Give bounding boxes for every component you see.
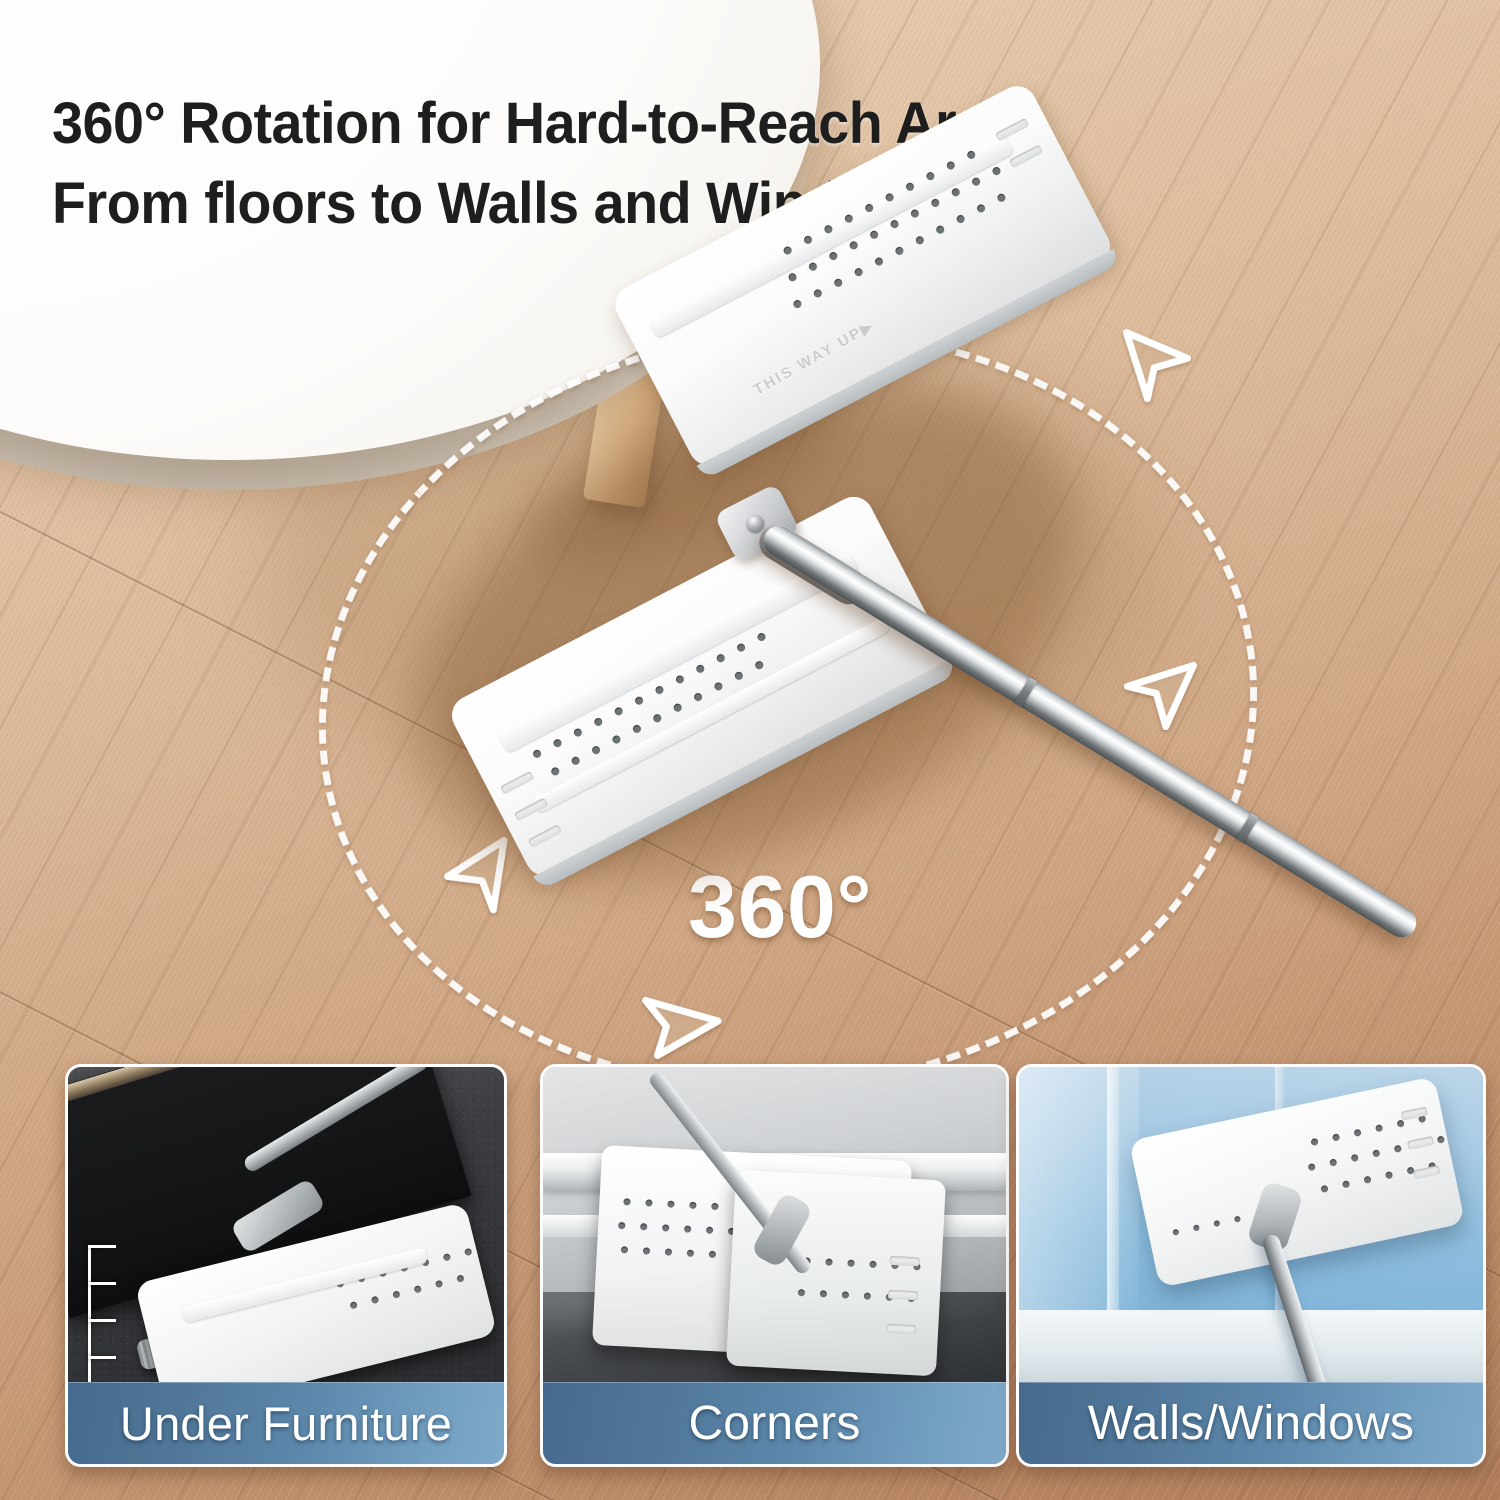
page-title: 360° Rotation for Hard-to-Reach Areas Fr… xyxy=(52,84,1415,244)
mop-pad-holes xyxy=(623,1198,718,1210)
panel-3-caption: Walls/Windows xyxy=(1019,1382,1483,1464)
feature-panel-row: 5CM Under Furniture xyxy=(0,1064,1500,1464)
height-ruler-icon xyxy=(88,1245,134,1382)
panel-2-caption-label: Corners xyxy=(688,1396,860,1451)
ruler-tick xyxy=(88,1356,116,1359)
mop-pad-slot xyxy=(890,1256,920,1267)
ruler-line xyxy=(88,1245,91,1382)
ruler-tick xyxy=(88,1245,116,1248)
mop-pad-holes xyxy=(618,1222,735,1235)
panel-corners[interactable]: Corners xyxy=(540,1064,1009,1467)
mop-pad-slot xyxy=(500,771,534,795)
panel-1-scene: 5CM xyxy=(68,1067,504,1382)
mop-pad-holes xyxy=(621,1246,716,1258)
panel-walls-windows[interactable]: Walls/Windows xyxy=(1016,1064,1486,1467)
headline-line-1: 360° Rotation for Hard-to-Reach Areas xyxy=(52,84,1415,164)
handle-joint-ring xyxy=(1014,677,1037,707)
mop-pad-slot xyxy=(528,824,562,848)
ruler-tick xyxy=(88,1319,116,1322)
rotation-badge: 360° xyxy=(688,856,872,958)
swivel-pin-icon xyxy=(747,515,764,532)
panel-3-caption-label: Walls/Windows xyxy=(1088,1396,1414,1451)
handle-joint-ring xyxy=(1236,813,1259,843)
product-feature-graphic: 360° Rotation for Hard-to-Reach Areas Fr… xyxy=(0,0,1500,1500)
mop-pad-slot xyxy=(1407,1136,1434,1150)
panel-1-caption: Under Furniture xyxy=(68,1382,504,1464)
hero-mop: THIS WAY UP▶ xyxy=(370,268,1160,868)
panel-under-furniture[interactable]: 5CM Under Furniture xyxy=(65,1064,507,1467)
mop-pad-slot xyxy=(995,118,1029,142)
ruler-tick xyxy=(88,1282,116,1285)
panel-2-caption: Corners xyxy=(543,1382,1006,1464)
panel-1-caption-label: Under Furniture xyxy=(120,1396,452,1451)
mop-pad-slot xyxy=(886,1324,916,1335)
mop-pad-slot xyxy=(1009,144,1043,168)
panel-3-scene xyxy=(1019,1067,1483,1382)
panel-2-scene xyxy=(543,1067,1006,1382)
mop-pad-holes xyxy=(550,660,765,777)
mop-pad-slot xyxy=(888,1290,918,1301)
window-sill xyxy=(1019,1310,1483,1382)
